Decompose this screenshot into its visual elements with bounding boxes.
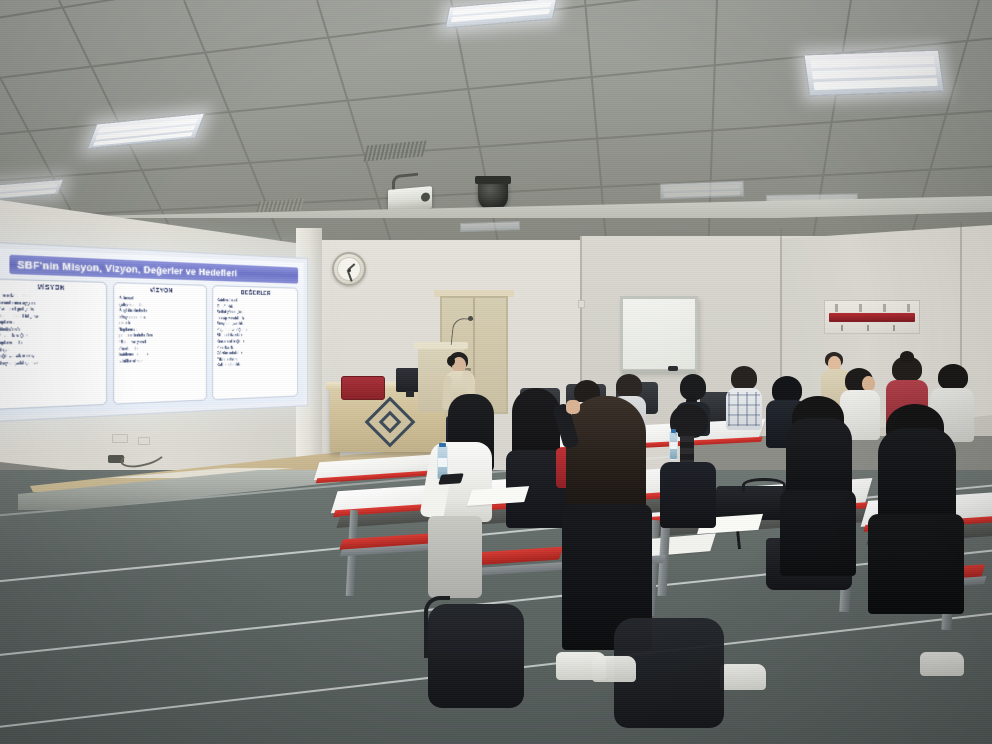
slide-column-heading: MİSYON xyxy=(0,283,102,293)
student-hair xyxy=(731,366,757,390)
wall-socket xyxy=(112,434,128,443)
sneaker xyxy=(592,656,636,682)
monitor-stand xyxy=(406,391,414,397)
sneaker xyxy=(920,652,964,676)
whiteboard-marker xyxy=(668,366,678,371)
slide-columns: MİSYON Ülkemizin temel sorunlarına uygun… xyxy=(0,278,298,410)
bottle-label xyxy=(670,442,677,449)
hand xyxy=(566,400,580,414)
wall-board-red-bar xyxy=(829,313,915,322)
water-bottle xyxy=(669,432,678,460)
bottle-label xyxy=(438,458,447,467)
classroom-photo-scene: SBF'nin Misyon, Vizyon, Değerler ve Hede… xyxy=(0,0,992,744)
slide-column-misyon: MİSYON Ülkemizin temel sorunlarına uygun… xyxy=(0,278,108,410)
presenter-hair-bun xyxy=(447,356,455,366)
wall-board-tick xyxy=(841,325,843,331)
student xyxy=(780,396,856,576)
student-shirt-stripes xyxy=(728,392,760,426)
clock-center-pin xyxy=(348,269,351,272)
student xyxy=(552,404,592,474)
student xyxy=(660,404,716,524)
student-hair xyxy=(616,374,642,398)
slide-column-body: Ülkemizin temel sorunlarına uygun Evrens… xyxy=(0,293,102,367)
projector-lens xyxy=(421,192,430,202)
slide-column-body: Katılım ilkesi Tarafsızlık Şeffaf yöneti… xyxy=(217,298,294,369)
student-hair xyxy=(938,364,968,390)
podium-microphone xyxy=(451,317,474,347)
wall-board-tick xyxy=(893,325,895,331)
wall-clock xyxy=(332,252,366,286)
camera-mount xyxy=(475,176,511,184)
wall-board-hook xyxy=(859,304,862,312)
student-trousers xyxy=(428,516,482,598)
presentation-slide: SBF'nin Misyon, Vizyon, Değerler ve Hede… xyxy=(0,247,303,416)
red-chair[interactable] xyxy=(341,376,385,400)
ceiling-projector xyxy=(388,186,432,212)
bottle-cap xyxy=(671,429,676,433)
backpack-strap xyxy=(424,596,450,658)
wall-board-hook xyxy=(907,304,910,312)
wall-board-hook xyxy=(835,304,838,312)
bottle-cap xyxy=(439,443,446,447)
student xyxy=(868,404,964,614)
ceiling-light-panel xyxy=(803,50,944,97)
student xyxy=(726,366,762,428)
dome-camera xyxy=(478,180,508,210)
slide-column-heading: VİZYON xyxy=(119,287,201,296)
wall-mounted-board xyxy=(824,300,920,334)
slide-column-heading: DEĞERLER xyxy=(217,289,294,297)
projection-screen: SBF'nin Misyon, Vizyon, Değerler ve Hede… xyxy=(0,241,308,423)
microphone-head xyxy=(468,316,473,321)
student-top xyxy=(780,490,856,576)
student-hair-bun xyxy=(900,351,914,363)
student-top xyxy=(660,462,716,528)
student-head xyxy=(862,376,875,391)
wall-sensor xyxy=(578,300,585,308)
wall-board-tick xyxy=(867,325,869,331)
slide-column-vizyon: VİZYON Bilimsel çalışmalarda Bilgi üreti… xyxy=(113,282,206,405)
slide-column-degerler: DEĞERLER Katılım ilkesi Tarafsızlık Şeff… xyxy=(212,285,298,400)
wall-board-hook xyxy=(883,304,886,312)
wall-socket xyxy=(138,437,150,445)
whiteboard xyxy=(620,296,698,372)
sneaker xyxy=(720,664,766,690)
student-top xyxy=(868,514,964,614)
ceiling-light-panel xyxy=(660,181,745,200)
slide-column-body: Bilimsel çalışmalarda Bilgi üretiminde M… xyxy=(119,296,201,365)
